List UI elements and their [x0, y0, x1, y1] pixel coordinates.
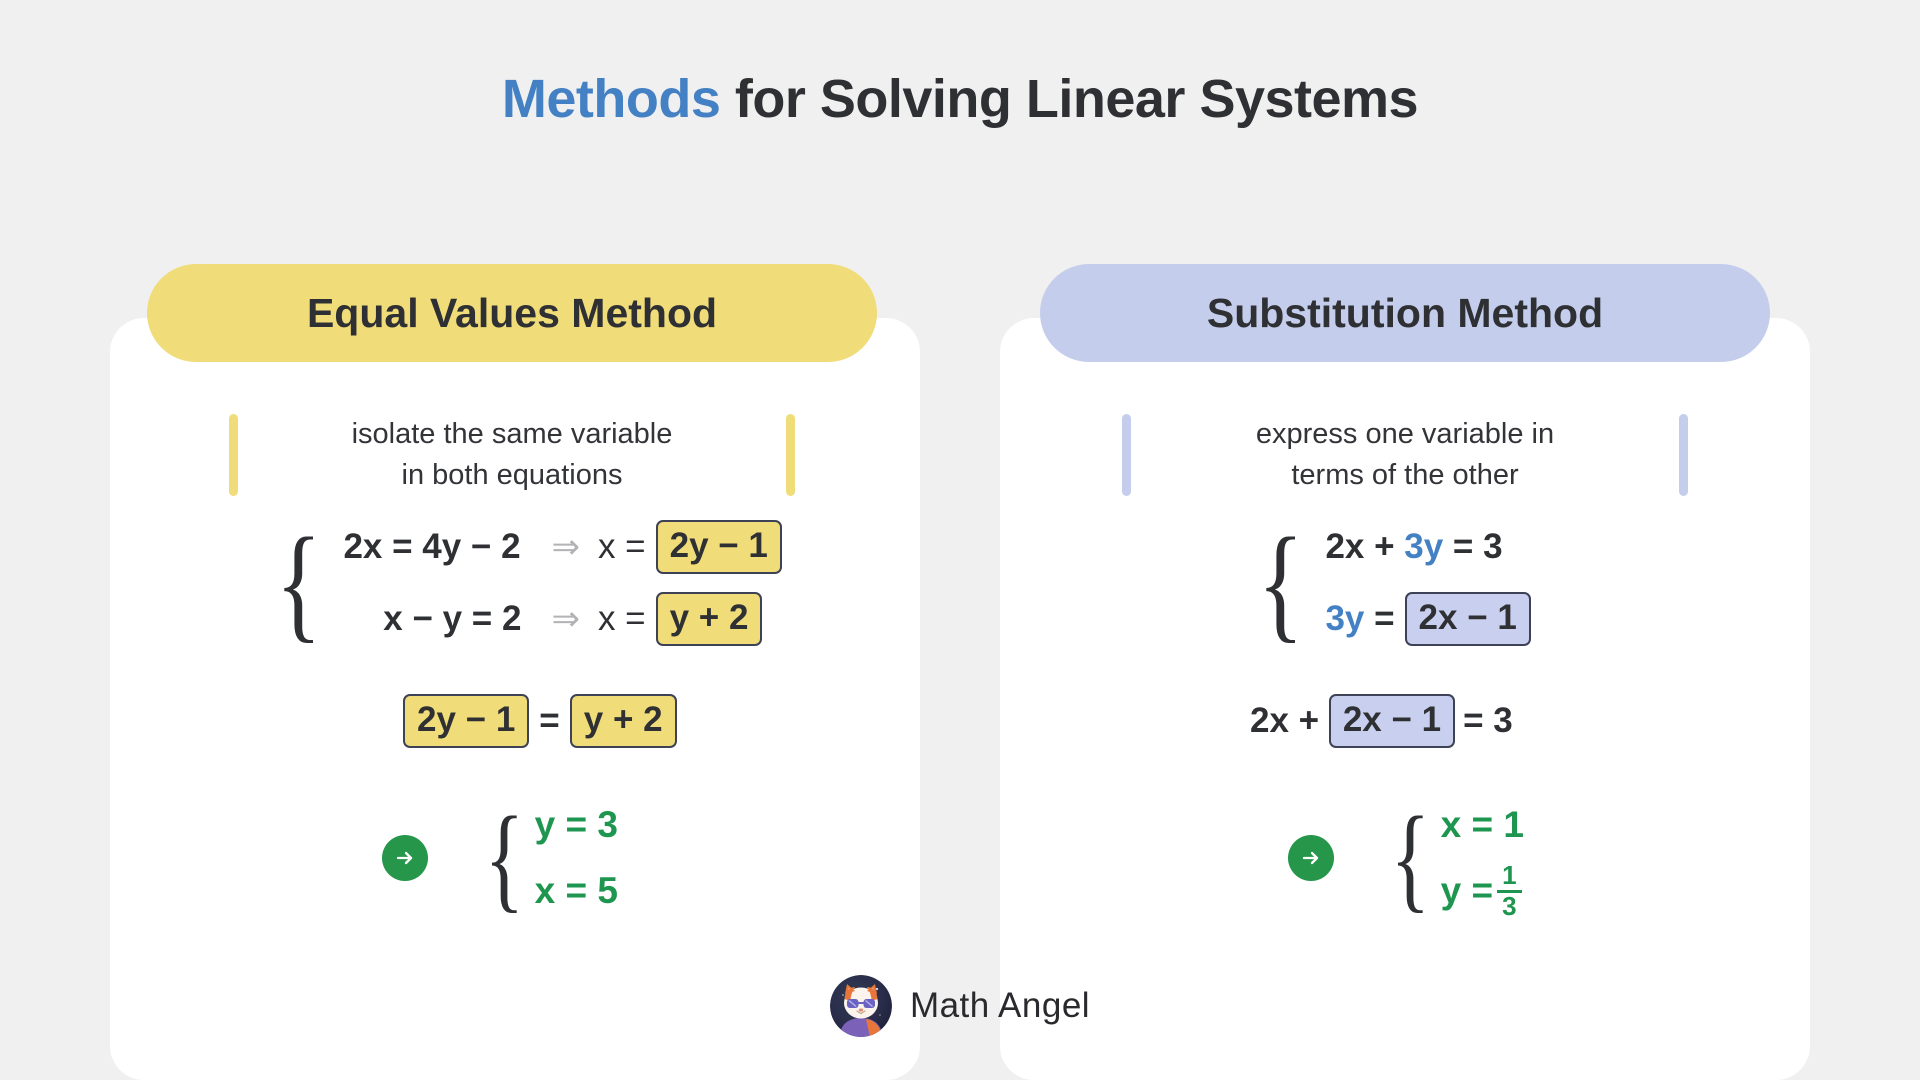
equation-system: { 2x + 3y = 3 3y = 2x − 1: [1250, 520, 1810, 646]
equation-prefix: 2x +: [1325, 527, 1404, 567]
solution-rows: y = 3 x = 5: [535, 800, 618, 916]
page-title: Methods for Solving Linear Systems: [0, 68, 1920, 130]
solution-row: x = 1: [1441, 800, 1524, 850]
equation-result-lhs: x =: [598, 599, 646, 639]
combine-equation: 2x + 2x − 1 = 3: [1250, 694, 1810, 748]
fraction-numerator: 1: [1497, 862, 1521, 889]
accent-bar-right: [786, 414, 795, 496]
combine-equation: 2y − 1 = y + 2: [403, 694, 920, 748]
highlighted-expression: 2y − 1: [656, 520, 782, 574]
equation-system: { 2x = 4y − 2 ⇒ x = 2y − 1 x − y = 2 ⇒ x…: [268, 520, 920, 646]
card-header-label: Substitution Method: [1207, 290, 1603, 337]
subtitle-text: express one variable in terms of the oth…: [1165, 414, 1645, 496]
page-title-accent: Methods: [502, 69, 721, 129]
equation-rows: 2x + 3y = 3 3y = 2x − 1: [1325, 520, 1530, 646]
accent-bar-right: [1679, 414, 1688, 496]
equation-row: 2x + 3y = 3: [1325, 520, 1530, 574]
equation-row: 3y = 2x − 1: [1325, 592, 1530, 646]
fraction-denominator: 3: [1497, 890, 1521, 920]
mascot-avatar-icon: [830, 975, 892, 1037]
card-header-substitution: Substitution Method: [1040, 264, 1770, 362]
combine-box: 2x − 1: [1329, 694, 1455, 748]
solution-row: y = 3: [535, 800, 618, 850]
solution-fraction-label: y =: [1441, 870, 1493, 912]
page-title-rest: for Solving Linear Systems: [720, 69, 1418, 129]
equation-equals: =: [1364, 599, 1394, 639]
subtitle-line-2: in both equations: [272, 455, 752, 496]
equation-row: x − y = 2 ⇒ x = y + 2: [343, 592, 781, 646]
solution-block: { y = 3 x = 5: [382, 800, 920, 916]
equation-result-lhs: x =: [598, 527, 646, 567]
math-body-equal-values: { 2x = 4y − 2 ⇒ x = 2y − 1 x − y = 2 ⇒ x…: [110, 520, 920, 916]
subtitle-line-1: express one variable in: [1165, 414, 1645, 455]
highlighted-expression: 2x − 1: [1405, 592, 1531, 646]
math-body-substitution: { 2x + 3y = 3 3y = 2x − 1 2x + 2x − 1 = …: [1000, 520, 1810, 916]
brand: Math Angel: [0, 975, 1920, 1037]
combine-operator: =: [539, 701, 559, 741]
equation-rows: 2x = 4y − 2 ⇒ x = 2y − 1 x − y = 2 ⇒ x =…: [343, 520, 781, 646]
arrow-right-icon: [1288, 835, 1334, 881]
subtitle-line-2: terms of the other: [1165, 455, 1645, 496]
equation-suffix: = 3: [1443, 527, 1502, 567]
equation-original: 2x = 4y − 2: [343, 527, 533, 567]
equation-original: x − y = 2: [343, 599, 533, 639]
equation-highlight-term: 3y: [1404, 527, 1443, 567]
equation-row: 2x = 4y − 2 ⇒ x = 2y − 1: [343, 520, 781, 574]
combine-right-box: y + 2: [570, 694, 677, 748]
fraction: 1 3: [1497, 862, 1521, 919]
solution-block: { x = 1 y = 1 3: [1288, 800, 1810, 916]
implies-icon: ⇒: [551, 599, 580, 639]
arrow-right-icon: [382, 835, 428, 881]
brand-name: Math Angel: [910, 986, 1090, 1026]
subtitle-substitution: express one variable in terms of the oth…: [1040, 414, 1770, 496]
highlighted-expression: y + 2: [656, 592, 763, 646]
subtitle-text: isolate the same variable in both equati…: [272, 414, 752, 496]
combine-left-box: 2y − 1: [403, 694, 529, 748]
solution-row-fraction: y = 1 3: [1441, 866, 1524, 916]
equation-highlight-term: 3y: [1325, 599, 1364, 639]
subtitle-line-1: isolate the same variable: [272, 414, 752, 455]
implies-icon: ⇒: [551, 527, 580, 567]
combine-suffix: = 3: [1463, 701, 1513, 741]
accent-bar-left: [1122, 414, 1131, 496]
subtitle-equal-values: isolate the same variable in both equati…: [147, 414, 877, 496]
combine-prefix: 2x +: [1250, 701, 1329, 741]
card-header-label: Equal Values Method: [307, 290, 717, 337]
solution-rows: x = 1 y = 1 3: [1441, 800, 1524, 916]
solution-row: x = 5: [535, 866, 618, 916]
accent-bar-left: [229, 414, 238, 496]
card-header-equal-values: Equal Values Method: [147, 264, 877, 362]
